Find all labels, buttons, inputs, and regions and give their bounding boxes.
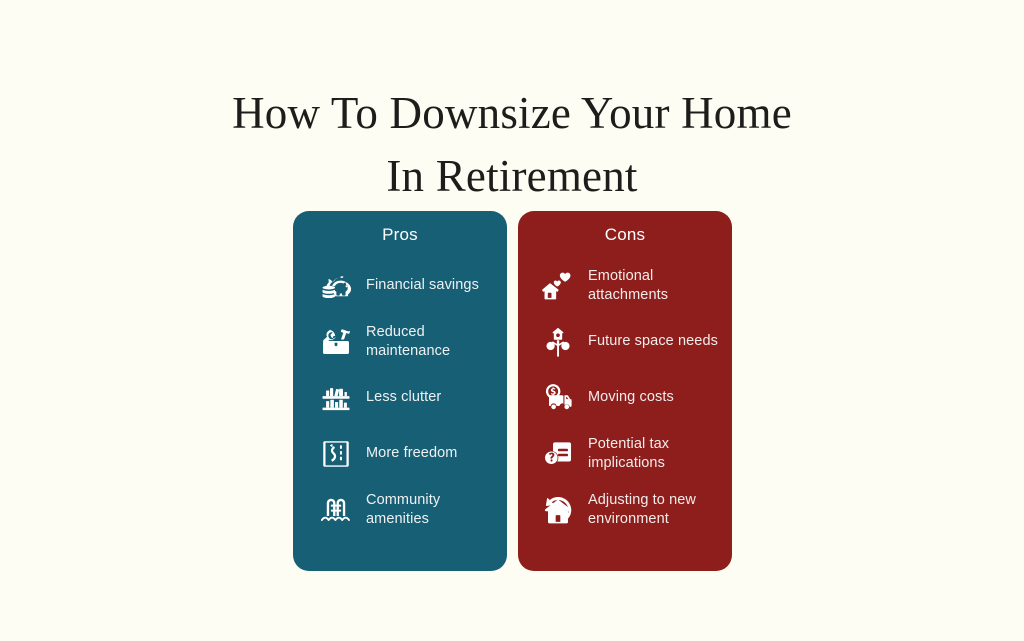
list-item: Reduced maintenance — [293, 314, 507, 370]
list-item-label: Financial savings — [366, 276, 479, 296]
list-item: Adjusting to new environment — [518, 482, 732, 538]
page-title-line-1: How To Downsize Your Home — [0, 82, 1024, 145]
comparison-cards: Pros Financial savings — [293, 211, 732, 571]
list-item: More freedom — [293, 426, 507, 482]
cons-card-title: Cons — [518, 225, 732, 245]
pros-card: Pros Financial savings — [293, 211, 507, 571]
document-question-icon — [540, 436, 576, 472]
pool-ladder-icon — [318, 492, 354, 528]
list-item-label: More freedom — [366, 444, 457, 464]
page-title: How To Downsize Your Home In Retirement — [0, 82, 1024, 208]
pros-list: Financial savings Reduced maintenance — [293, 258, 507, 538]
list-item-label: Emotional attachments — [588, 267, 722, 306]
list-item-label: Less clutter — [366, 388, 441, 408]
list-item-label: Potential tax implications — [588, 435, 722, 474]
pros-card-title: Pros — [293, 225, 507, 245]
list-item-label: Community amenities — [366, 491, 497, 530]
cons-list: Emotional attachments Future space needs — [518, 258, 732, 538]
list-item: Moving costs — [518, 370, 732, 426]
house-hearts-icon — [540, 268, 576, 304]
list-item-label: Reduced maintenance — [366, 323, 497, 362]
list-item-label: Moving costs — [588, 388, 674, 408]
list-item: Less clutter — [293, 370, 507, 426]
list-item: Potential tax implications — [518, 426, 732, 482]
bookshelf-icon — [318, 380, 354, 416]
list-item: Emotional attachments — [518, 258, 732, 314]
list-item-label: Future space needs — [588, 332, 718, 352]
birdhouse-tree-icon — [540, 324, 576, 360]
winding-road-sign-icon — [318, 436, 354, 472]
list-item: Future space needs — [518, 314, 732, 370]
moving-truck-dollar-icon — [540, 380, 576, 416]
toolbox-wrench-hammer-icon — [318, 324, 354, 360]
cons-card: Cons Emotional attachments — [518, 211, 732, 571]
page-title-line-2: In Retirement — [0, 145, 1024, 208]
list-item: Financial savings — [293, 258, 507, 314]
list-item-label: Adjusting to new environment — [588, 491, 722, 530]
piggy-bank-coins-icon — [318, 268, 354, 304]
list-item: Community amenities — [293, 482, 507, 538]
infographic-canvas: How To Downsize Your Home In Retirement … — [0, 0, 1024, 641]
house-refresh-arrow-icon — [540, 492, 576, 528]
